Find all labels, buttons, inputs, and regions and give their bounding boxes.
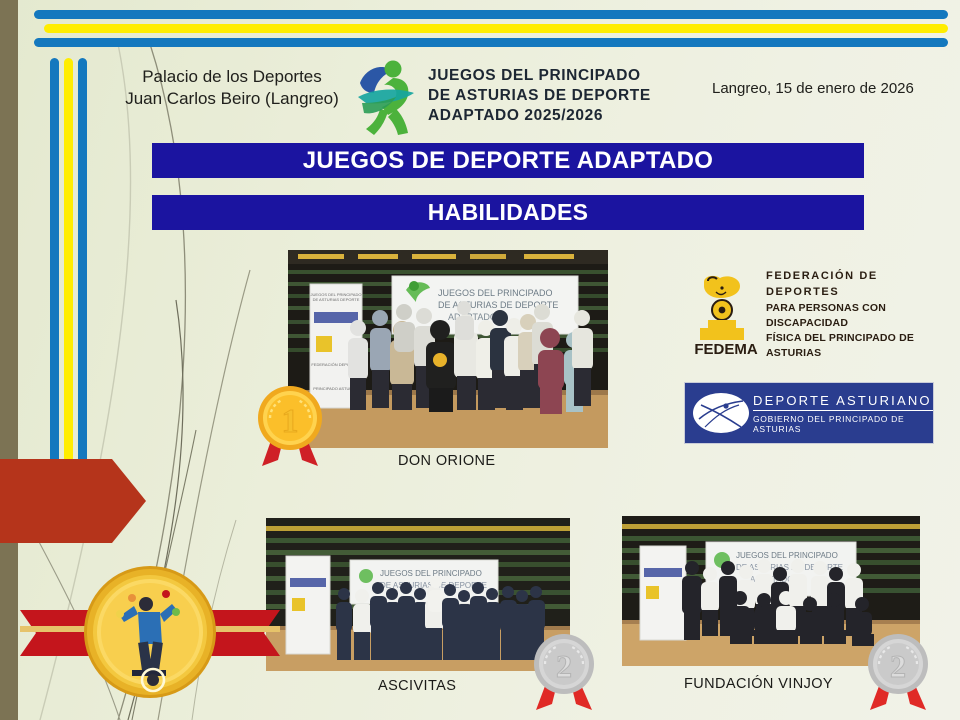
slide-canvas: Palacio de los Deportes Juan Carlos Beir… [0, 0, 960, 720]
photo-2-graphic: JUEGOS DEL PRINCIPADO DE ASTURIAS DE DEP… [266, 518, 570, 671]
event-logo-line-2: DE ASTURIAS DE DEPORTE [428, 86, 651, 106]
gold-award-seal [20, 552, 280, 712]
event-logo-text: JUEGOS DEL PRINCIPADO DE ASTURIAS DE DEP… [428, 66, 651, 125]
photo-caption-2: ASCIVITAS [378, 678, 456, 694]
event-logo: JUEGOS DEL PRINCIPADO DE ASTURIAS DE DEP… [352, 50, 692, 142]
top-bar-blue-1 [34, 10, 948, 19]
svg-text:JUEGOS DEL PRINCIPADO: JUEGOS DEL PRINCIPADO [380, 569, 482, 578]
athlete-figure-icon [352, 53, 422, 139]
gold-medal-badge-1: 1 [252, 382, 328, 470]
side-bar-blue-2 [78, 58, 87, 520]
deporte-asturiano-logo: DEPORTE ASTURIANO GOBIERNO DEL PRINCIPAD… [684, 382, 934, 444]
top-bar-yellow [44, 24, 948, 33]
side-bar-blue-1 [50, 58, 59, 520]
side-bar-yellow [64, 58, 73, 520]
team-photo-don-orione: JUEGOS DEL PRINCIPADO DE ASTURIAS DEPORT… [288, 250, 608, 448]
silver-medal-badge-3: 2 [862, 628, 934, 714]
venue-line-2: Juan Carlos Beiro (Langreo) [112, 88, 352, 110]
fedema-line-2: PARA PERSONAS CON DISCAPACIDAD [766, 301, 934, 331]
event-logo-line-3: ADAPTADO 2025/2026 [428, 106, 651, 126]
fedema-line-1: FEDERACIÓN DE DEPORTES [766, 269, 934, 301]
red-arrow-shape [0, 455, 146, 547]
event-logo-line-1: JUEGOS DEL PRINCIPADO [428, 66, 651, 86]
deporte-asturiano-text: DEPORTE ASTURIANO GOBIERNO DEL PRINCIPAD… [753, 393, 933, 434]
left-edge-strip [0, 0, 18, 720]
photo-caption-1: DON ORIONE [398, 453, 495, 469]
venue-line-1: Palacio de los Deportes [112, 66, 352, 88]
photo-1-graphic: JUEGOS DEL PRINCIPADO DE ASTURIAS DEPORT… [288, 250, 608, 448]
medal-1-number: 1 [282, 403, 299, 440]
medal-3-number: 2 [890, 648, 906, 684]
title-band: JUEGOS DE DEPORTE ADAPTADO [152, 143, 864, 178]
deporte-asturiano-emblem-icon [691, 389, 751, 437]
venue-text: Palacio de los Deportes Juan Carlos Beir… [112, 66, 352, 111]
deporte-asturiano-line-1: DEPORTE ASTURIANO [753, 393, 933, 408]
event-date: Langreo, 15 de enero de 2026 [712, 80, 914, 97]
fedema-logo: FEDEMA FEDERACIÓN DE DEPORTES PARA PERSO… [686, 272, 934, 358]
svg-text:JUEGOS DEL PRINCIPADO: JUEGOS DEL PRINCIPADO [438, 288, 553, 298]
silver-medal-badge-2: 2 [528, 628, 600, 714]
svg-text:DE ASTURIAS DEPORTE: DE ASTURIAS DEPORTE [313, 297, 360, 302]
top-bar-blue-2 [34, 38, 948, 47]
fedema-text: FEDERACIÓN DE DEPORTES PARA PERSONAS CON… [766, 269, 934, 362]
medal-2-number: 2 [556, 648, 572, 684]
deporte-asturiano-line-2: GOBIERNO DEL PRINCIPADO DE ASTURIAS [753, 414, 933, 434]
subtitle-band: HABILIDADES [152, 195, 864, 230]
deporte-asturiano-divider [753, 410, 933, 411]
svg-text:JUEGOS DEL PRINCIPADO: JUEGOS DEL PRINCIPADO [736, 551, 838, 560]
fedema-line-3: FÍSICA DEL PRINCIPADO DE ASTURIAS [766, 331, 934, 361]
photo-caption-3: FUNDACIÓN VINJOY [684, 676, 833, 692]
fedema-acronym: FEDEMA [694, 341, 758, 358]
team-photo-ascivitas: JUEGOS DEL PRINCIPADO DE ASTURIAS DE DEP… [266, 518, 570, 671]
fedema-symbol-icon: FEDEMA [686, 272, 766, 358]
